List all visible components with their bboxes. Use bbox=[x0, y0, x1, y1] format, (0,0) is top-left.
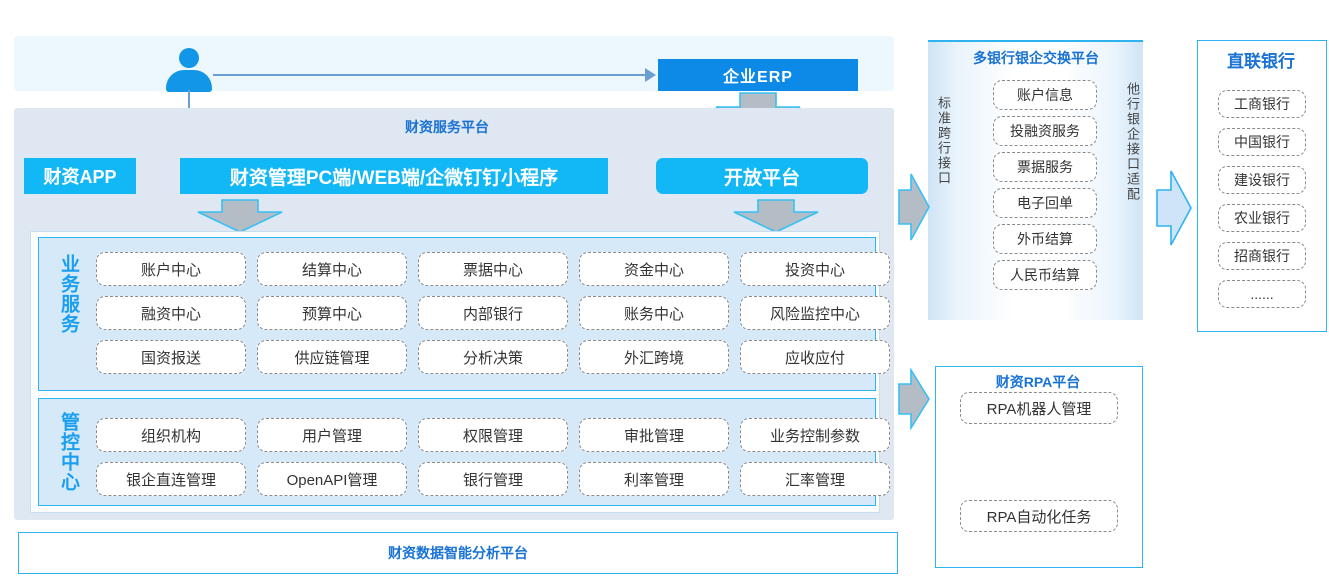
control-center-card[interactable]: 银行管理 bbox=[418, 462, 568, 496]
exchange-platform-item[interactable]: 电子回单 bbox=[993, 188, 1097, 218]
control-center-card[interactable]: 银企直连管理 bbox=[96, 462, 246, 496]
direct-bank-item[interactable]: 中国银行 bbox=[1218, 128, 1306, 156]
channel-button-pc-web[interactable]: 财资管理PC端/WEB端/企微钉钉小程序 bbox=[180, 158, 608, 194]
rpa-platform-title: 财资RPA平台 bbox=[935, 372, 1141, 392]
rpa-platform-item[interactable]: RPA自动化任务 bbox=[960, 500, 1118, 532]
business-service-card[interactable]: 资金中心 bbox=[579, 252, 729, 286]
direct-banks-title: 直联银行 bbox=[1197, 47, 1325, 72]
control-center-card[interactable]: 组织机构 bbox=[96, 418, 246, 452]
enterprise-erp-box[interactable]: 企业ERP bbox=[658, 59, 858, 91]
business-service-card[interactable]: 融资中心 bbox=[96, 296, 246, 330]
standard-interface-label: 标准跨行接口 bbox=[934, 96, 953, 186]
direct-bank-item[interactable]: 招商银行 bbox=[1218, 242, 1306, 270]
exchange-platform-item[interactable]: 外币结算 bbox=[993, 224, 1097, 254]
user-icon-head bbox=[179, 48, 199, 68]
exchange-platform-item[interactable]: 票据服务 bbox=[993, 152, 1097, 182]
gray-arrow-right-rpa-icon bbox=[897, 368, 931, 430]
business-service-card[interactable]: 账户中心 bbox=[96, 252, 246, 286]
business-service-card[interactable]: 预算中心 bbox=[257, 296, 407, 330]
analytics-platform-bar: 财资数据智能分析平台 bbox=[18, 532, 898, 574]
exchange-platform-item[interactable]: 账户信息 bbox=[993, 80, 1097, 110]
channel-button-open-platform[interactable]: 开放平台 bbox=[656, 158, 868, 194]
control-center-card[interactable]: 权限管理 bbox=[418, 418, 568, 452]
exchange-platform-item[interactable]: 投融资服务 bbox=[993, 116, 1097, 146]
other-bank-adapter-label: 他行银企接口适配 bbox=[1123, 82, 1142, 202]
service-platform-title: 财资服务平台 bbox=[405, 117, 489, 137]
control-center-label: 管控中心 bbox=[55, 412, 82, 492]
business-service-card[interactable]: 账务中心 bbox=[579, 296, 729, 330]
direct-bank-item[interactable]: 工商银行 bbox=[1218, 90, 1306, 118]
direct-bank-item[interactable]: 建设银行 bbox=[1218, 166, 1306, 194]
business-service-card[interactable]: 结算中心 bbox=[257, 252, 407, 286]
business-service-card[interactable]: 应收应付 bbox=[740, 340, 890, 374]
control-center-card[interactable]: 利率管理 bbox=[579, 462, 729, 496]
business-service-card[interactable]: 分析决策 bbox=[418, 340, 568, 374]
business-services-label: 业务服务 bbox=[55, 254, 82, 334]
business-service-card[interactable]: 供应链管理 bbox=[257, 340, 407, 374]
exchange-platform-item[interactable]: 人民币结算 bbox=[993, 260, 1097, 290]
business-service-card[interactable]: 投资中心 bbox=[740, 252, 890, 286]
business-service-card[interactable]: 外汇跨境 bbox=[579, 340, 729, 374]
direct-bank-item[interactable]: ...... bbox=[1218, 280, 1306, 308]
control-center-card[interactable]: 用户管理 bbox=[257, 418, 407, 452]
gray-arrow-down-open-icon bbox=[732, 198, 820, 234]
control-center-card[interactable]: 审批管理 bbox=[579, 418, 729, 452]
user-icon-body bbox=[166, 70, 212, 92]
connector-user-to-erp bbox=[213, 74, 650, 76]
business-service-card[interactable]: 国资报送 bbox=[96, 340, 246, 374]
light-arrow-right-banks-icon bbox=[1155, 168, 1193, 248]
rpa-platform-item[interactable]: RPA机器人管理 bbox=[960, 392, 1118, 424]
control-center-card[interactable]: 汇率管理 bbox=[740, 462, 890, 496]
gray-arrow-down-pc-icon bbox=[196, 198, 284, 234]
business-service-card[interactable]: 内部银行 bbox=[418, 296, 568, 330]
control-center-card[interactable]: OpenAPI管理 bbox=[257, 462, 407, 496]
control-center-card[interactable]: 业务控制参数 bbox=[740, 418, 890, 452]
channel-button-app[interactable]: 财资APP bbox=[24, 158, 136, 194]
exchange-platform-title: 多银行银企交换平台 bbox=[966, 48, 1106, 68]
direct-bank-item[interactable]: 农业银行 bbox=[1218, 204, 1306, 232]
user-icon bbox=[166, 48, 212, 92]
arrowhead-right-icon bbox=[645, 68, 656, 82]
business-service-card[interactable]: 票据中心 bbox=[418, 252, 568, 286]
business-service-card[interactable]: 风险监控中心 bbox=[740, 296, 890, 330]
gray-arrow-right-exchange-icon bbox=[897, 172, 931, 242]
